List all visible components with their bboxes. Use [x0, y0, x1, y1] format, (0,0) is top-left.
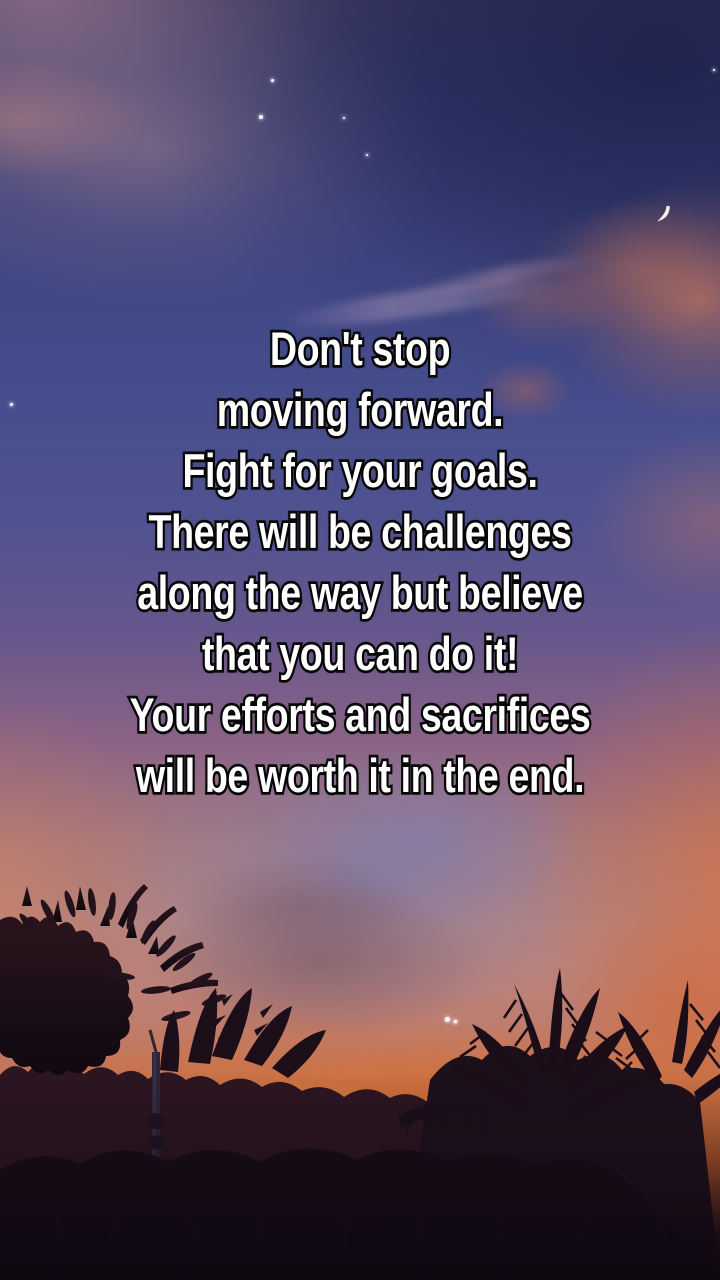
star-4: [366, 154, 368, 156]
quote-text-block: Don't stop moving forward. Fight for you…: [0, 318, 720, 806]
star-3: [343, 117, 345, 119]
quote-line-2: moving forward.: [72, 379, 648, 440]
quote-line-1: Don't stop: [72, 318, 648, 379]
star-1: [271, 79, 274, 82]
quote-line-4: There will be challenges: [72, 501, 648, 562]
quote-line-3: Fight for your goals.: [72, 440, 648, 501]
quote-line-5: along the way but believe: [72, 562, 648, 623]
quote-poster: Don't stop moving forward. Fight for you…: [0, 0, 720, 1280]
star-5: [713, 69, 715, 71]
banana-leaves: [160, 988, 326, 1078]
foreground-silhouette-layer: [0, 880, 720, 1280]
crescent-moon-icon: [642, 196, 678, 232]
quote-line-7: Your efforts and sacrifices: [72, 684, 648, 745]
quote-line-8: will be worth it in the end.: [72, 745, 648, 806]
star-2: [259, 115, 263, 119]
quote-line-6: that you can do it!: [72, 623, 648, 684]
